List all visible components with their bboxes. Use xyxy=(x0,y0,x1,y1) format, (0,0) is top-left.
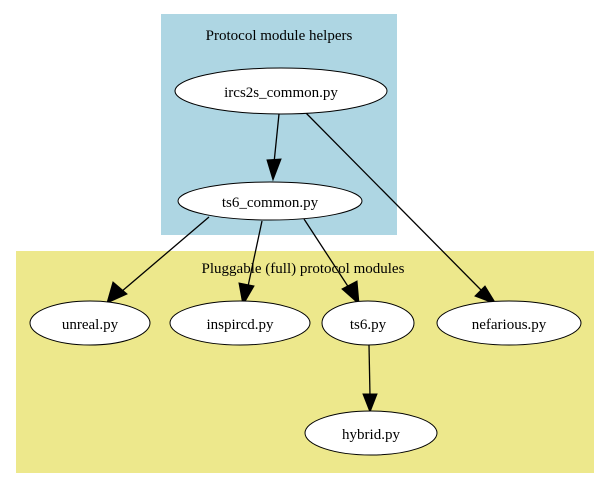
node-ircs2s-common[interactable]: ircs2s_common.py xyxy=(175,68,387,114)
node-inspircd[interactable]: inspircd.py xyxy=(170,301,310,345)
cluster-pluggable-protocol-modules: Pluggable (full) protocol modules xyxy=(16,251,594,473)
cluster-helpers-label: Protocol module helpers xyxy=(206,28,353,44)
node-hybrid[interactable]: hybrid.py xyxy=(305,411,437,455)
node-nefarious[interactable]: nefarious.py xyxy=(437,301,581,345)
node-label: ts6_common.py xyxy=(222,195,319,211)
node-label: hybrid.py xyxy=(342,427,400,443)
node-label: nefarious.py xyxy=(472,317,547,333)
node-label: inspircd.py xyxy=(206,317,274,333)
cluster-modules-background xyxy=(16,251,594,473)
node-label: unreal.py xyxy=(62,317,119,333)
protocol-module-graph: Protocol module helpers Pluggable (full)… xyxy=(0,0,609,490)
cluster-modules-label: Pluggable (full) protocol modules xyxy=(202,261,405,277)
node-ts6[interactable]: ts6.py xyxy=(322,301,414,345)
node-ts6-common[interactable]: ts6_common.py xyxy=(178,182,362,220)
node-unreal[interactable]: unreal.py xyxy=(30,301,150,345)
node-label: ircs2s_common.py xyxy=(224,85,338,101)
diagram-canvas: Protocol module helpers Pluggable (full)… xyxy=(0,0,609,490)
node-label: ts6.py xyxy=(350,317,387,333)
